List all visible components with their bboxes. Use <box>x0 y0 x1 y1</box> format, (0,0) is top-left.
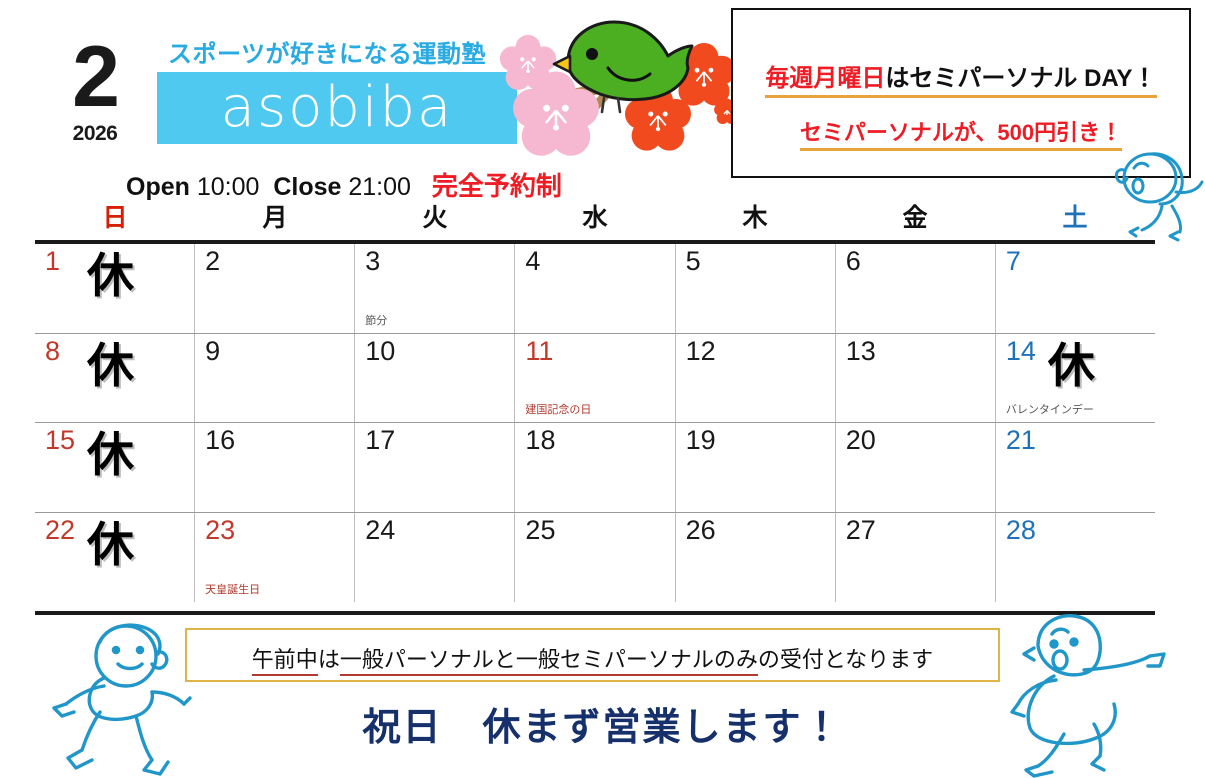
day-note: 節分 <box>365 312 387 328</box>
calendar-day-cell-26[interactable]: 26 <box>676 513 836 603</box>
plum-branch-with-bird-illustration <box>496 6 756 181</box>
calendar-day-cell-24[interactable]: 24 <box>355 513 515 603</box>
calendar-day-cell-10[interactable]: 10 <box>355 334 515 423</box>
calendar-day-cell-19[interactable]: 19 <box>676 423 836 512</box>
logo-banner: asobiba <box>157 72 517 144</box>
closed-day-mark: 休 <box>87 342 134 389</box>
promo-line2-price: 500円引き！ <box>997 120 1122 145</box>
closed-day-mark: 休 <box>87 252 134 299</box>
calendar-day-cell-18[interactable]: 18 <box>515 423 675 512</box>
calendar-day-cell-25[interactable]: 25 <box>515 513 675 603</box>
day-note: バレンタインデー <box>1006 401 1094 417</box>
day-number: 21 <box>1006 427 1036 454</box>
calendar-day-cell-3[interactable]: 3節分 <box>355 244 515 333</box>
day-number: 15 <box>45 427 75 454</box>
calendar-week-row: 1休23節分4567 <box>35 244 1155 334</box>
closed-day-mark: 休 <box>87 521 134 568</box>
footer-notice-part-b: は <box>318 647 340 672</box>
day-number: 6 <box>846 248 861 275</box>
day-number: 16 <box>205 427 235 454</box>
calendar-day-cell-21[interactable]: 21 <box>996 423 1155 512</box>
calendar-day-cell-27[interactable]: 27 <box>836 513 996 603</box>
weekday-header-wd-4: 木 <box>675 198 835 238</box>
calendar-day-cell-23[interactable]: 23天皇誕生日 <box>195 513 355 603</box>
calendar-day-cell-14[interactable]: 14休バレンタインデー <box>996 334 1155 423</box>
calendar-day-cell-1[interactable]: 1休 <box>35 244 195 333</box>
calendar-day-cell-11[interactable]: 11建国記念の日 <box>515 334 675 423</box>
day-number: 23 <box>205 517 235 544</box>
day-number: 19 <box>686 427 716 454</box>
close-time: 21:00 <box>348 173 411 201</box>
month-year-block: 2 2026 <box>40 42 150 146</box>
tagline: スポーツが好きになる運動塾 <box>168 34 486 69</box>
calendar-day-cell-16[interactable]: 16 <box>195 423 355 512</box>
day-number: 20 <box>846 427 876 454</box>
running-child-icon <box>1108 132 1205 244</box>
day-note: 建国記念の日 <box>525 401 591 417</box>
day-number: 27 <box>846 517 876 544</box>
calendar-day-cell-12[interactable]: 12 <box>676 334 836 423</box>
calendar-day-cell-17[interactable]: 17 <box>355 423 515 512</box>
calendar-day-cell-15[interactable]: 15休 <box>35 423 195 512</box>
promo-line1-rest: はセミパーソナル DAY！ <box>885 65 1156 92</box>
calendar-grid: 1休23節分45678休91011建国記念の日121314休バレンタインデー15… <box>35 240 1155 615</box>
closed-day-mark: 休 <box>1048 342 1095 389</box>
footer-notice-text: 午前中は一般パーソナルと一般セミパーソナルのみの受付となります <box>187 642 998 674</box>
day-number: 26 <box>686 517 716 544</box>
closed-day-mark: 休 <box>87 431 134 478</box>
day-note: 天皇誕生日 <box>205 581 260 597</box>
footer-notice-part-d: の受付となります <box>758 647 933 672</box>
day-number: 17 <box>365 427 395 454</box>
weekday-header-wd-1: 月 <box>195 198 355 238</box>
month-number: 2 <box>40 42 150 113</box>
weekday-header-wd-5: 金 <box>835 198 995 238</box>
calendar-day-cell-8[interactable]: 8休 <box>35 334 195 423</box>
running-child-icon <box>1008 606 1173 778</box>
day-number: 5 <box>686 248 701 275</box>
footer-notice-part-c: 一般パーソナルと一般セミパーソナルのみ <box>340 647 758 676</box>
day-number: 11 <box>525 338 553 365</box>
close-label: Close <box>273 173 341 201</box>
weekday-header-row: 日月火水木金土 <box>35 198 1155 238</box>
day-number: 2 <box>205 248 220 275</box>
day-number: 25 <box>525 517 555 544</box>
calendar-week-row: 15休161718192021 <box>35 423 1155 513</box>
weekday-header-wd-3: 水 <box>515 198 675 238</box>
promo-line-1: 毎週月曜日はセミパーソナル DAY！ <box>733 58 1189 93</box>
day-number: 9 <box>205 338 220 365</box>
day-number: 14 <box>1006 338 1036 365</box>
weekday-header-sun-0: 日 <box>35 198 195 238</box>
day-number: 10 <box>365 338 395 365</box>
calendar-page: 2 2026 スポーツが好きになる運動塾 asobiba Open 10:00 … <box>0 0 1205 778</box>
promo-line1-highlight: 毎週月曜日 <box>765 65 885 92</box>
day-number: 7 <box>1006 248 1021 275</box>
calendar-week-row: 22休23天皇誕生日2425262728 <box>35 513 1155 603</box>
calendar-day-cell-6[interactable]: 6 <box>836 244 996 333</box>
running-child-icon <box>48 612 193 778</box>
day-number: 13 <box>846 338 876 365</box>
calendar-day-cell-5[interactable]: 5 <box>676 244 836 333</box>
open-time: 10:00 <box>197 173 260 201</box>
footer-notice-part-a: 午前中 <box>252 647 318 676</box>
calendar-day-cell-28[interactable]: 28 <box>996 513 1155 603</box>
calendar-day-cell-2[interactable]: 2 <box>195 244 355 333</box>
promo-line2-lead: セミパーソナルが、 <box>800 120 998 145</box>
day-number: 3 <box>365 248 380 275</box>
footer-headline: 祝日 休まず営業します！ <box>0 696 1205 751</box>
day-number: 18 <box>525 427 555 454</box>
weekday-header-wd-2: 火 <box>355 198 515 238</box>
year-number: 2026 <box>40 122 150 146</box>
day-number: 4 <box>525 248 540 275</box>
day-number: 28 <box>1006 517 1036 544</box>
calendar-day-cell-9[interactable]: 9 <box>195 334 355 423</box>
open-label: Open <box>126 173 190 201</box>
logo-text: asobiba <box>221 80 454 136</box>
calendar-day-cell-20[interactable]: 20 <box>836 423 996 512</box>
day-number: 12 <box>686 338 716 365</box>
calendar-day-cell-22[interactable]: 22休 <box>35 513 195 603</box>
day-number: 22 <box>45 517 75 544</box>
day-number: 24 <box>365 517 395 544</box>
footer-notice-box: 午前中は一般パーソナルと一般セミパーソナルのみの受付となります <box>185 628 1000 682</box>
day-number: 8 <box>45 338 60 365</box>
calendar-day-cell-13[interactable]: 13 <box>836 334 996 423</box>
day-number: 1 <box>45 248 60 275</box>
calendar-week-row: 8休91011建国記念の日121314休バレンタインデー <box>35 334 1155 424</box>
calendar-day-cell-4[interactable]: 4 <box>515 244 675 333</box>
calendar-day-cell-7[interactable]: 7 <box>996 244 1155 333</box>
